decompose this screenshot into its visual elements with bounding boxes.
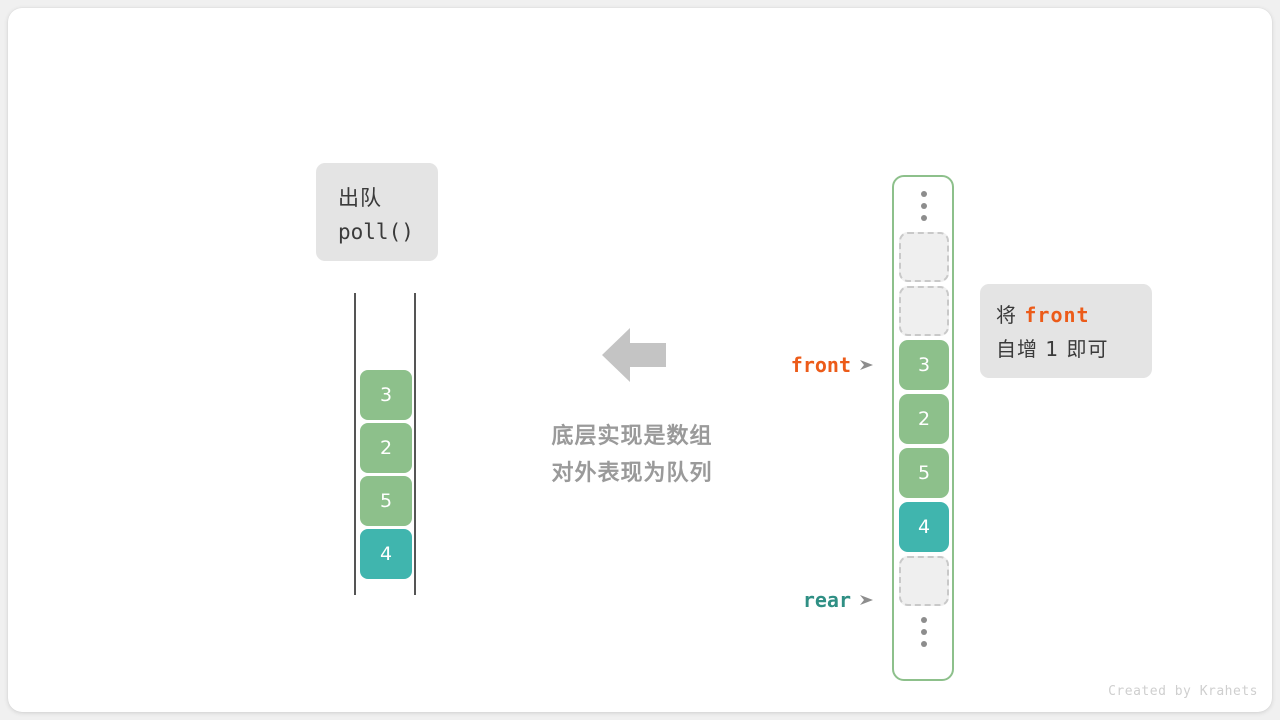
top-ellipsis-icon bbox=[899, 184, 949, 228]
operation-method: poll() bbox=[338, 215, 438, 249]
caption-line-1: 底层实现是数组 bbox=[508, 418, 756, 455]
array-slots: 3 2 5 4 bbox=[899, 184, 949, 654]
operation-label-box: 出队 poll() bbox=[316, 163, 438, 261]
rear-pointer-text: rear bbox=[803, 588, 851, 612]
array-slot: 2 bbox=[899, 394, 949, 444]
left-queue-column: 3 2 5 4 bbox=[346, 293, 420, 595]
note-line-2: 自增 1 即可 bbox=[996, 332, 1152, 366]
queue-rail-right bbox=[414, 293, 416, 595]
array-slot bbox=[899, 232, 949, 282]
note-box: 将 front 自增 1 即可 bbox=[980, 284, 1152, 378]
front-pointer-label: front bbox=[708, 351, 876, 379]
arrowhead-right-icon bbox=[860, 358, 876, 372]
diagram-canvas: 出队 poll() 3 2 5 4 底层实现是数组 对外表现为队列 front bbox=[8, 8, 1272, 712]
note-line-1: 将 front bbox=[996, 298, 1152, 332]
left-queue-cells: 3 2 5 4 bbox=[360, 370, 412, 582]
queue-cell: 4 bbox=[360, 529, 412, 579]
operation-title: 出队 bbox=[338, 181, 438, 215]
note-prefix: 将 bbox=[996, 303, 1017, 327]
array-slot: 4 bbox=[899, 502, 949, 552]
bottom-ellipsis-icon bbox=[899, 610, 949, 654]
array-container: 3 2 5 4 bbox=[892, 175, 954, 681]
rear-pointer-label: rear bbox=[708, 586, 876, 614]
queue-cell: 3 bbox=[360, 370, 412, 420]
note-keyword: front bbox=[1024, 303, 1089, 327]
credit-text: Created by Krahets bbox=[1078, 684, 1258, 699]
transform-arrow-icon bbox=[602, 328, 666, 382]
array-slot bbox=[899, 556, 949, 606]
center-caption: 底层实现是数组 对外表现为队列 bbox=[508, 418, 756, 492]
array-slot bbox=[899, 286, 949, 336]
array-slot: 5 bbox=[899, 448, 949, 498]
queue-cell: 2 bbox=[360, 423, 412, 473]
array-slot: 3 bbox=[899, 340, 949, 390]
arrowhead-right-icon bbox=[860, 593, 876, 607]
front-pointer-text: front bbox=[791, 353, 851, 377]
queue-rail-left bbox=[354, 293, 356, 595]
caption-line-2: 对外表现为队列 bbox=[508, 455, 756, 492]
queue-cell: 5 bbox=[360, 476, 412, 526]
